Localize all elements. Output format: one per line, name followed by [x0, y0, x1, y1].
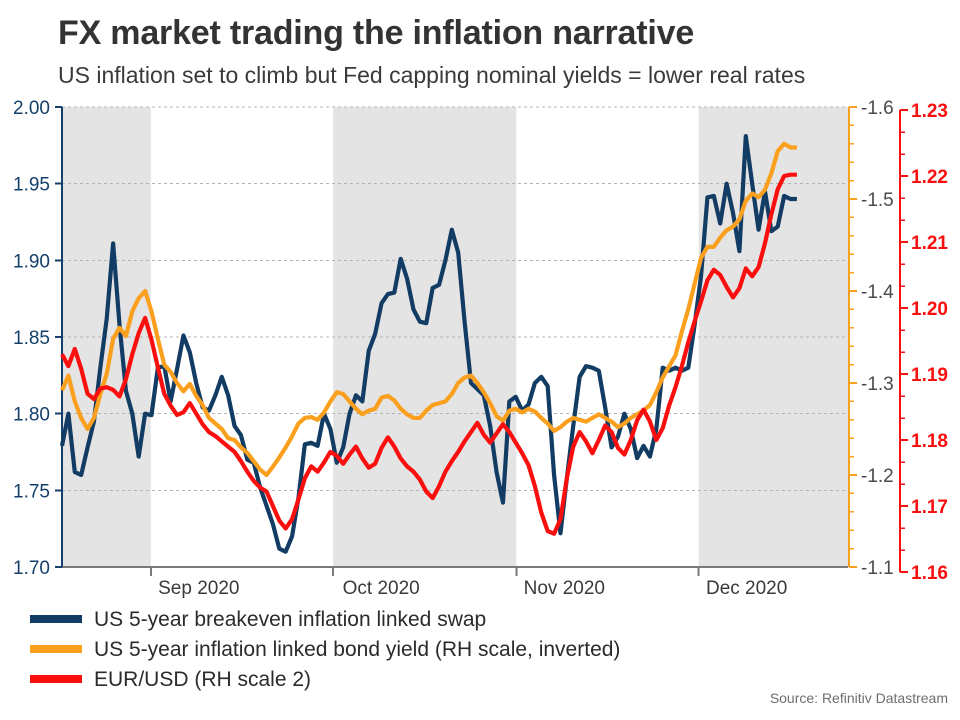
axis-tick-label-right-1: -1.2	[861, 466, 894, 487]
axis-tick-label-left: 1.95	[13, 175, 50, 196]
axis-tick-label-left: 2.00	[13, 98, 50, 119]
axis-tick-label-right-1: -1.6	[861, 98, 894, 119]
axis-tick-label-right-1: -1.5	[861, 190, 894, 211]
axis-tick-label-right-2: 1.23	[911, 101, 948, 122]
axis-tick-label-right-2: 1.16	[911, 563, 948, 584]
axis-tick-label-right-2: 1.21	[911, 233, 948, 254]
axis-tick-label-bottom: Oct 2020	[343, 578, 420, 599]
chart-root: FX market trading the inflation narrativ…	[0, 0, 960, 720]
axis-tick-label-right-2: 1.22	[911, 167, 948, 188]
axis-tick-label-left: 1.70	[13, 558, 50, 579]
source-note: Source: Refinitiv Datastream	[770, 690, 948, 706]
axis-tick-label-left: 1.85	[13, 328, 50, 349]
axis-tick-label-right-1: -1.3	[861, 374, 894, 395]
line-swatch-red	[30, 675, 82, 683]
axis-tick-label-right-2: 1.18	[911, 431, 948, 452]
axis-tick-label-left: 1.75	[13, 481, 50, 502]
axis-tick-label-right-1: -1.4	[861, 282, 894, 303]
axis-tick-label-right-2: 1.19	[911, 365, 948, 386]
legend-item[interactable]: EUR/USD (RH scale 2)	[30, 664, 620, 694]
axis-tick-label-bottom: Nov 2020	[524, 578, 605, 599]
line-swatch-orange	[30, 645, 82, 653]
chart-legend: US 5-year breakeven inflation linked swa…	[30, 604, 620, 694]
axis-tick-label-right-2: 1.20	[911, 299, 948, 320]
legend-item[interactable]: US 5-year breakeven inflation linked swa…	[30, 604, 620, 634]
axis-tick-label-bottom: Dec 2020	[706, 578, 787, 599]
legend-label: US 5-year breakeven inflation linked swa…	[94, 609, 486, 630]
legend-item[interactable]: US 5-year inflation linked bond yield (R…	[30, 634, 620, 664]
axis-tick-label-left: 1.80	[13, 405, 50, 426]
line-swatch-navy	[30, 615, 82, 623]
axis-tick-label-right-1: -1.1	[861, 558, 894, 579]
legend-label: EUR/USD (RH scale 2)	[94, 669, 311, 690]
axis-tick-label-right-2: 1.17	[911, 497, 948, 518]
legend-label: US 5-year inflation linked bond yield (R…	[94, 639, 620, 660]
axis-tick-label-left: 1.90	[13, 251, 50, 272]
axis-tick-label-bottom: Sep 2020	[158, 578, 239, 599]
